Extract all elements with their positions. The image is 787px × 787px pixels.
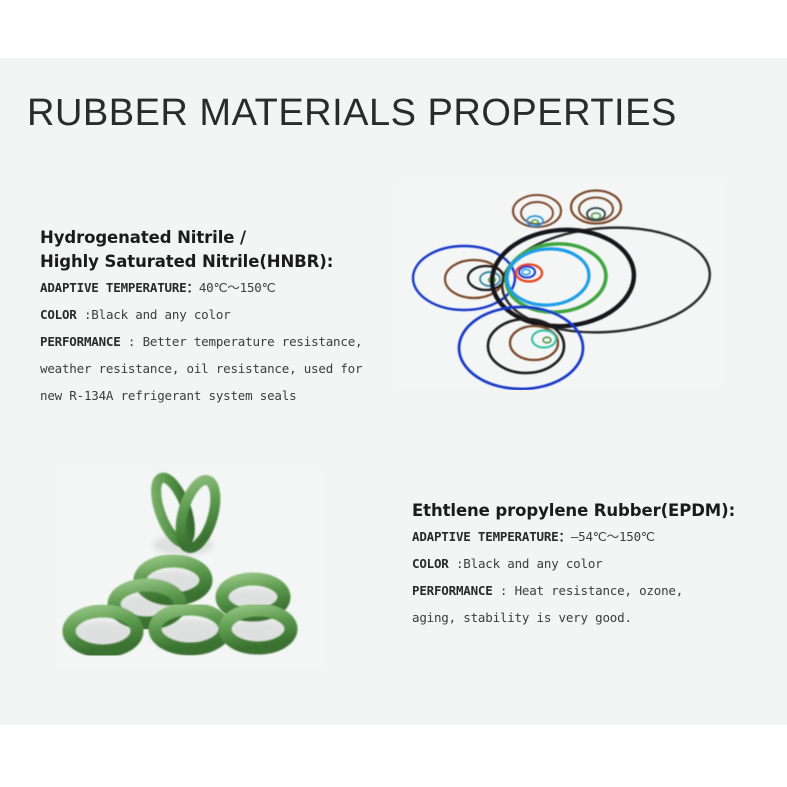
page-title: RUBBER MATERIALS PROPERTIES xyxy=(27,92,677,135)
epdm-color-value: :Black and any color xyxy=(456,556,603,571)
green-o-rings-photo xyxy=(55,470,325,670)
epdm-temperature-value: –54℃～150℃ xyxy=(571,529,655,544)
epdm-spec-temperature: ADAPTIVE TEMPERATURE：–54℃～150℃ xyxy=(412,523,735,550)
poster-page: RUBBER MATERIALS PROPERTIES Hydrogenated… xyxy=(0,0,787,787)
assorted-o-rings-photo xyxy=(396,180,726,390)
epdm-performance-continuation-1: aging, stability is very good. xyxy=(412,604,735,631)
epdm-performance-value: : Heat resistance, ozone, xyxy=(500,583,683,598)
hnbr-spec-color: COLOR :Black and any color xyxy=(40,301,362,328)
hnbr-performance-value: : Better temperature resistance, xyxy=(128,334,362,349)
hnbr-performance-continuation-2: new R-134A refrigerant system seals xyxy=(40,382,362,409)
epdm-color-label: COLOR xyxy=(412,556,456,571)
hnbr-heading-line2: Highly Saturated Nitrile(HNBR): xyxy=(40,250,362,274)
epdm-temperature-label: ADAPTIVE TEMPERATURE： xyxy=(412,529,571,544)
epdm-spec-performance: PERFORMANCE : Heat resistance, ozone, xyxy=(412,577,735,604)
epdm-heading-line1: Ethtlene propylene Rubber(EPDM): xyxy=(412,499,735,523)
hnbr-temperature-label: ADAPTIVE TEMPERATURE： xyxy=(40,280,199,295)
hnbr-heading-line1: Hydrogenated Nitrile / xyxy=(40,226,362,250)
hnbr-color-value: :Black and any color xyxy=(84,307,231,322)
hnbr-spec-temperature: ADAPTIVE TEMPERATURE：40℃～150℃ xyxy=(40,274,362,301)
epdm-spec-color: COLOR :Black and any color xyxy=(412,550,735,577)
epdm-performance-label: PERFORMANCE xyxy=(412,583,500,598)
hnbr-performance-continuation-1: weather resistance, oil resistance, used… xyxy=(40,355,362,382)
hnbr-performance-label: PERFORMANCE xyxy=(40,334,128,349)
hnbr-spec-performance: PERFORMANCE : Better temperature resista… xyxy=(40,328,362,355)
hnbr-temperature-value: 40℃～150℃ xyxy=(199,280,276,295)
material-block-epdm: Ethtlene propylene Rubber(EPDM): ADAPTIV… xyxy=(412,499,735,631)
material-block-hnbr: Hydrogenated Nitrile / Highly Saturated … xyxy=(40,226,362,409)
hnbr-color-label: COLOR xyxy=(40,307,84,322)
